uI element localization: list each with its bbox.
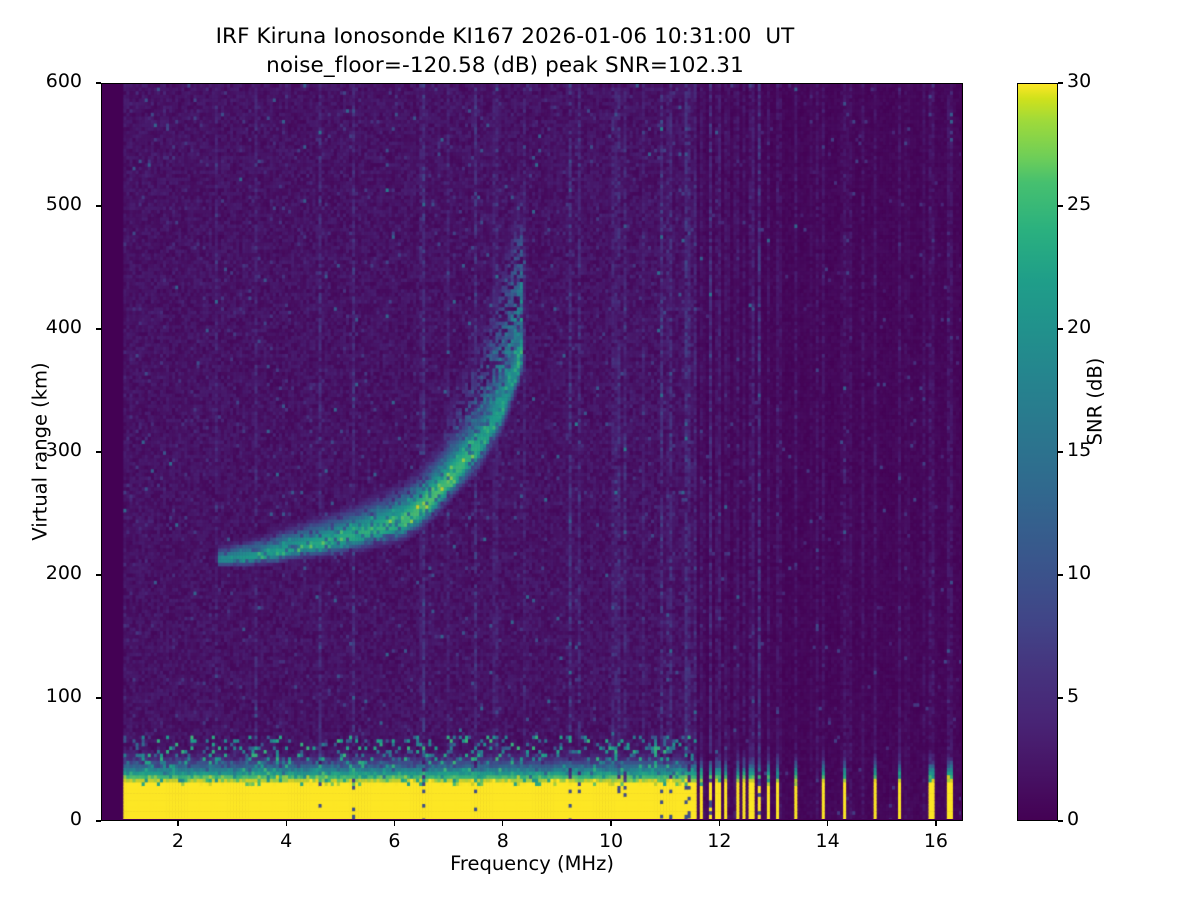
y-tick-mark (96, 82, 101, 83)
y-tick-label-200: 200 (22, 562, 82, 584)
x-tick-mark (610, 821, 611, 826)
x-tick-label-14: 14 (798, 830, 858, 852)
ionogram-plot-area[interactable] (101, 83, 963, 821)
x-tick-mark (935, 821, 936, 826)
x-tick-label-6: 6 (364, 830, 424, 852)
y-tick-label-100: 100 (22, 685, 82, 707)
colorbar-tick-label-5: 5 (1067, 685, 1127, 707)
title-line-1: IRF Kiruna Ionosonde KI167 2026-01-06 10… (0, 22, 1010, 51)
x-tick-label-10: 10 (581, 830, 641, 852)
y-tick-mark (96, 574, 101, 575)
snr-colorbar[interactable] (1017, 83, 1058, 821)
colorbar-tick-mark (1058, 451, 1063, 452)
x-tick-label-16: 16 (906, 830, 966, 852)
colorbar-tick-mark (1058, 697, 1063, 698)
x-axis-label: Frequency (MHz) (101, 852, 963, 875)
colorbar-tick-mark (1058, 574, 1063, 575)
colorbar-tick-label-10: 10 (1067, 562, 1127, 584)
y-tick-mark (96, 328, 101, 329)
x-tick-label-4: 4 (256, 830, 316, 852)
y-tick-label-300: 300 (22, 439, 82, 461)
x-tick-mark (286, 821, 287, 826)
colorbar-tick-mark (1058, 82, 1063, 83)
x-tick-mark (827, 821, 828, 826)
colorbar-tick-label-15: 15 (1067, 439, 1127, 461)
x-tick-mark (719, 821, 720, 826)
x-tick-mark (394, 821, 395, 826)
colorbar-tick-mark (1058, 205, 1063, 206)
x-tick-label-8: 8 (473, 830, 533, 852)
x-tick-label-12: 12 (689, 830, 749, 852)
y-tick-mark (96, 205, 101, 206)
title-line-2: noise_floor=-120.58 (dB) peak SNR=102.31 (0, 51, 1010, 80)
colorbar-tick-label-20: 20 (1067, 316, 1127, 338)
colorbar-tick-label-30: 30 (1067, 70, 1127, 92)
figure-title: IRF Kiruna Ionosonde KI167 2026-01-06 10… (0, 22, 1010, 80)
colorbar-tick-label-0: 0 (1067, 808, 1127, 830)
y-tick-mark (96, 451, 101, 452)
y-tick-label-0: 0 (22, 808, 82, 830)
y-tick-label-600: 600 (22, 70, 82, 92)
y-tick-mark (96, 697, 101, 698)
ionogram-figure: IRF Kiruna Ionosonde KI167 2026-01-06 10… (0, 0, 1200, 900)
y-tick-mark (96, 820, 101, 821)
y-tick-label-500: 500 (22, 193, 82, 215)
ionogram-heatmap-canvas (102, 84, 961, 819)
colorbar-tick-mark (1058, 328, 1063, 329)
x-tick-mark (177, 821, 178, 826)
x-tick-label-2: 2 (148, 830, 208, 852)
x-tick-mark (502, 821, 503, 826)
y-tick-label-400: 400 (22, 316, 82, 338)
colorbar-tick-label-25: 25 (1067, 193, 1127, 215)
colorbar-tick-mark (1058, 820, 1063, 821)
